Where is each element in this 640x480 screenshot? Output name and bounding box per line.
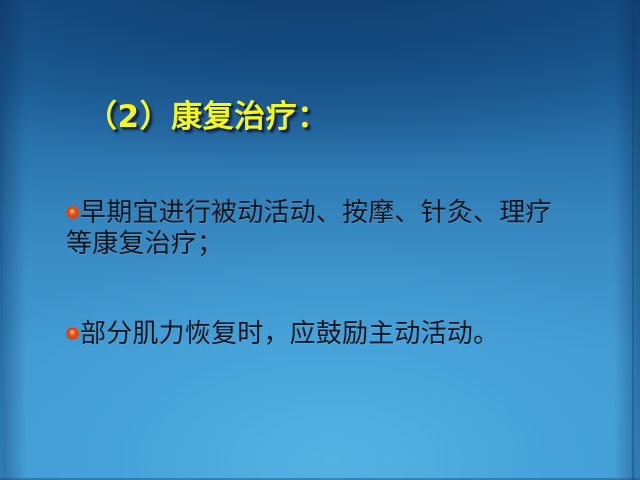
slide-content: （2）康复治疗： 早期宜进行被动活动、按摩、针灸、理疗等康复治疗； 部分肌力恢复…	[0, 0, 640, 480]
bullet-item-text: 部分肌力恢复时，应鼓励主动活动。	[80, 319, 499, 349]
bullet-item: 早期宜进行被动活动、按摩、针灸、理疗等康复治疗；	[66, 198, 566, 260]
bullet-item-text: 早期宜进行被动活动、按摩、针灸、理疗等康复治疗；	[66, 198, 552, 259]
orange-circle-bullet-icon	[66, 206, 79, 219]
slide-title: （2）康复治疗：	[86, 99, 329, 136]
slide-body: 早期宜进行被动活动、按摩、针灸、理疗等康复治疗； 部分肌力恢复时，应鼓励主动活动…	[66, 172, 566, 376]
presentation-slide: （2）康复治疗： 早期宜进行被动活动、按摩、针灸、理疗等康复治疗； 部分肌力恢复…	[0, 0, 640, 480]
orange-circle-bullet-icon	[66, 327, 79, 340]
bullet-item: 部分肌力恢复时，应鼓励主动活动。	[66, 319, 566, 350]
